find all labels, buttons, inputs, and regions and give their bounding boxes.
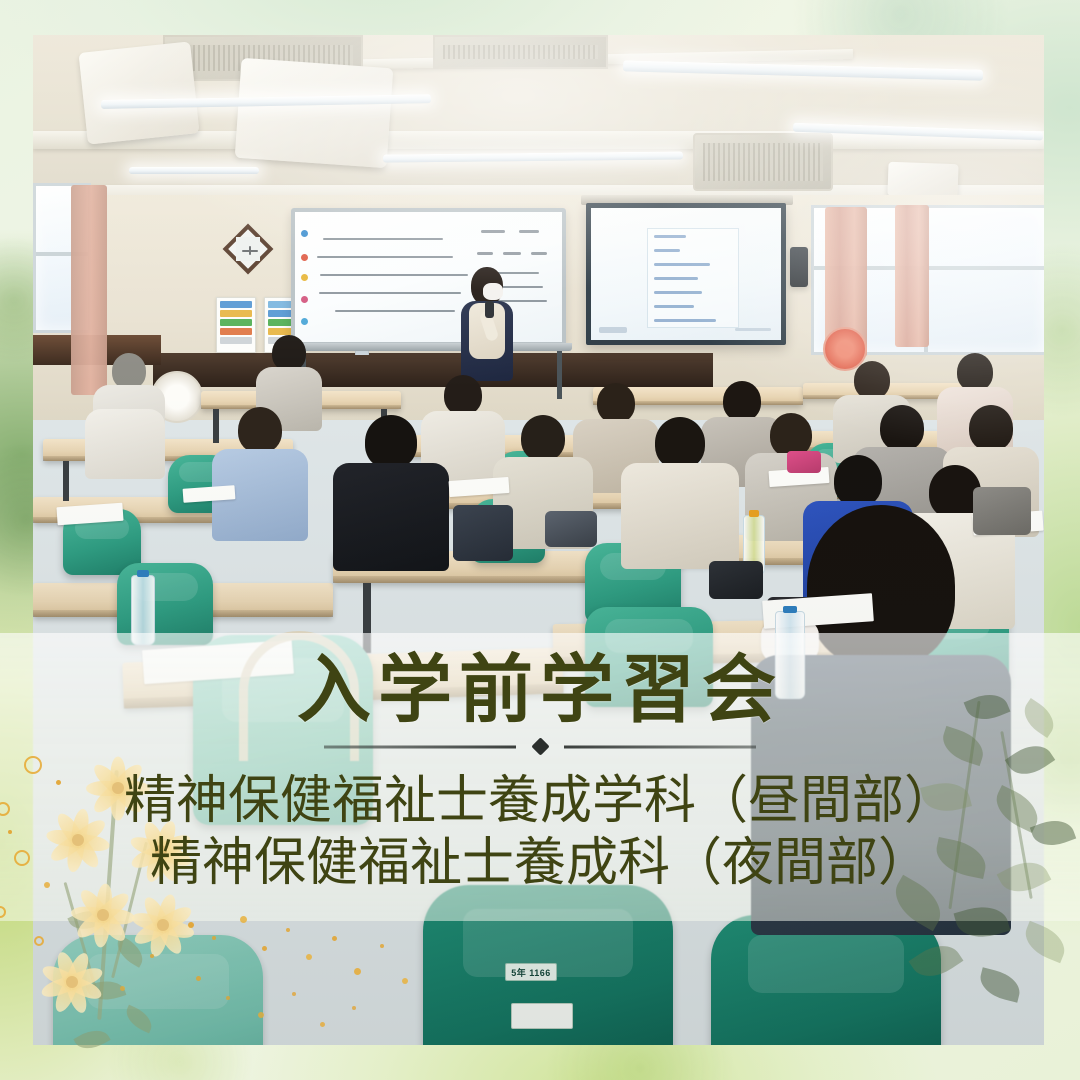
microphone bbox=[485, 301, 494, 318]
bottle-cap bbox=[783, 606, 798, 613]
bag bbox=[973, 487, 1031, 535]
title-divider bbox=[324, 735, 756, 759]
ceiling-projector bbox=[887, 162, 958, 198]
ac-vent bbox=[433, 35, 608, 69]
whiteboard-tray bbox=[287, 343, 572, 351]
divider-line-left bbox=[324, 745, 516, 748]
pink-pouch bbox=[787, 451, 821, 473]
projection-screen bbox=[586, 203, 786, 345]
whiteboard-magnet bbox=[301, 318, 308, 325]
whiteboard-magnet bbox=[301, 274, 308, 281]
ceiling-projector bbox=[78, 41, 199, 144]
curtain-right bbox=[895, 205, 929, 347]
ac-vent bbox=[693, 133, 833, 191]
flower-leaf-icon bbox=[122, 1005, 157, 1034]
whiteboard-magnet bbox=[301, 254, 308, 261]
chair-tag-card bbox=[511, 1003, 573, 1029]
attendee bbox=[211, 407, 309, 537]
subtitle-line-2: 精神保健福祉士養成科（夜間部） bbox=[150, 833, 930, 893]
ceiling-projector-screen-housing bbox=[235, 58, 394, 168]
ac-vent-grill bbox=[443, 45, 598, 59]
whiteboard-leg bbox=[557, 351, 562, 399]
whiteboard-magnet bbox=[301, 296, 308, 303]
divider-line-right bbox=[564, 745, 756, 748]
poster-canvas: 5年 1166 bbox=[0, 0, 1080, 1080]
poster-text-block: 入学前学習会 精神保健福祉士養成学科（昼間部） 精神保健福祉士養成科（夜間部） bbox=[0, 633, 1080, 923]
clock-face bbox=[236, 237, 260, 261]
ceiling-light bbox=[129, 167, 259, 174]
projected-slide bbox=[647, 228, 739, 328]
bottle-cap bbox=[749, 510, 759, 517]
page-title: 入学前学習会 bbox=[297, 651, 783, 731]
attendee bbox=[333, 415, 449, 567]
whiteboard-magnet bbox=[301, 230, 308, 237]
wall-poster bbox=[216, 297, 256, 353]
bottle-cap bbox=[137, 570, 148, 577]
ac-vent-grill bbox=[703, 143, 823, 181]
clock-hand-hour bbox=[249, 246, 251, 255]
attendee bbox=[621, 417, 739, 565]
flower-leaf-icon bbox=[73, 1023, 110, 1055]
whiteboard bbox=[291, 208, 566, 346]
wall-speaker bbox=[790, 247, 808, 287]
subtitle-line-1: 精神保健福祉士養成学科（昼間部） bbox=[124, 771, 956, 831]
bag bbox=[709, 561, 763, 599]
presenter-face-mask bbox=[483, 283, 503, 300]
divider-diamond-icon bbox=[531, 738, 549, 756]
bag bbox=[545, 511, 597, 547]
attendee bbox=[85, 365, 165, 475]
flower-icon bbox=[46, 956, 98, 1008]
chair-tag-number: 5年 1166 bbox=[505, 963, 557, 981]
bag bbox=[453, 505, 513, 561]
